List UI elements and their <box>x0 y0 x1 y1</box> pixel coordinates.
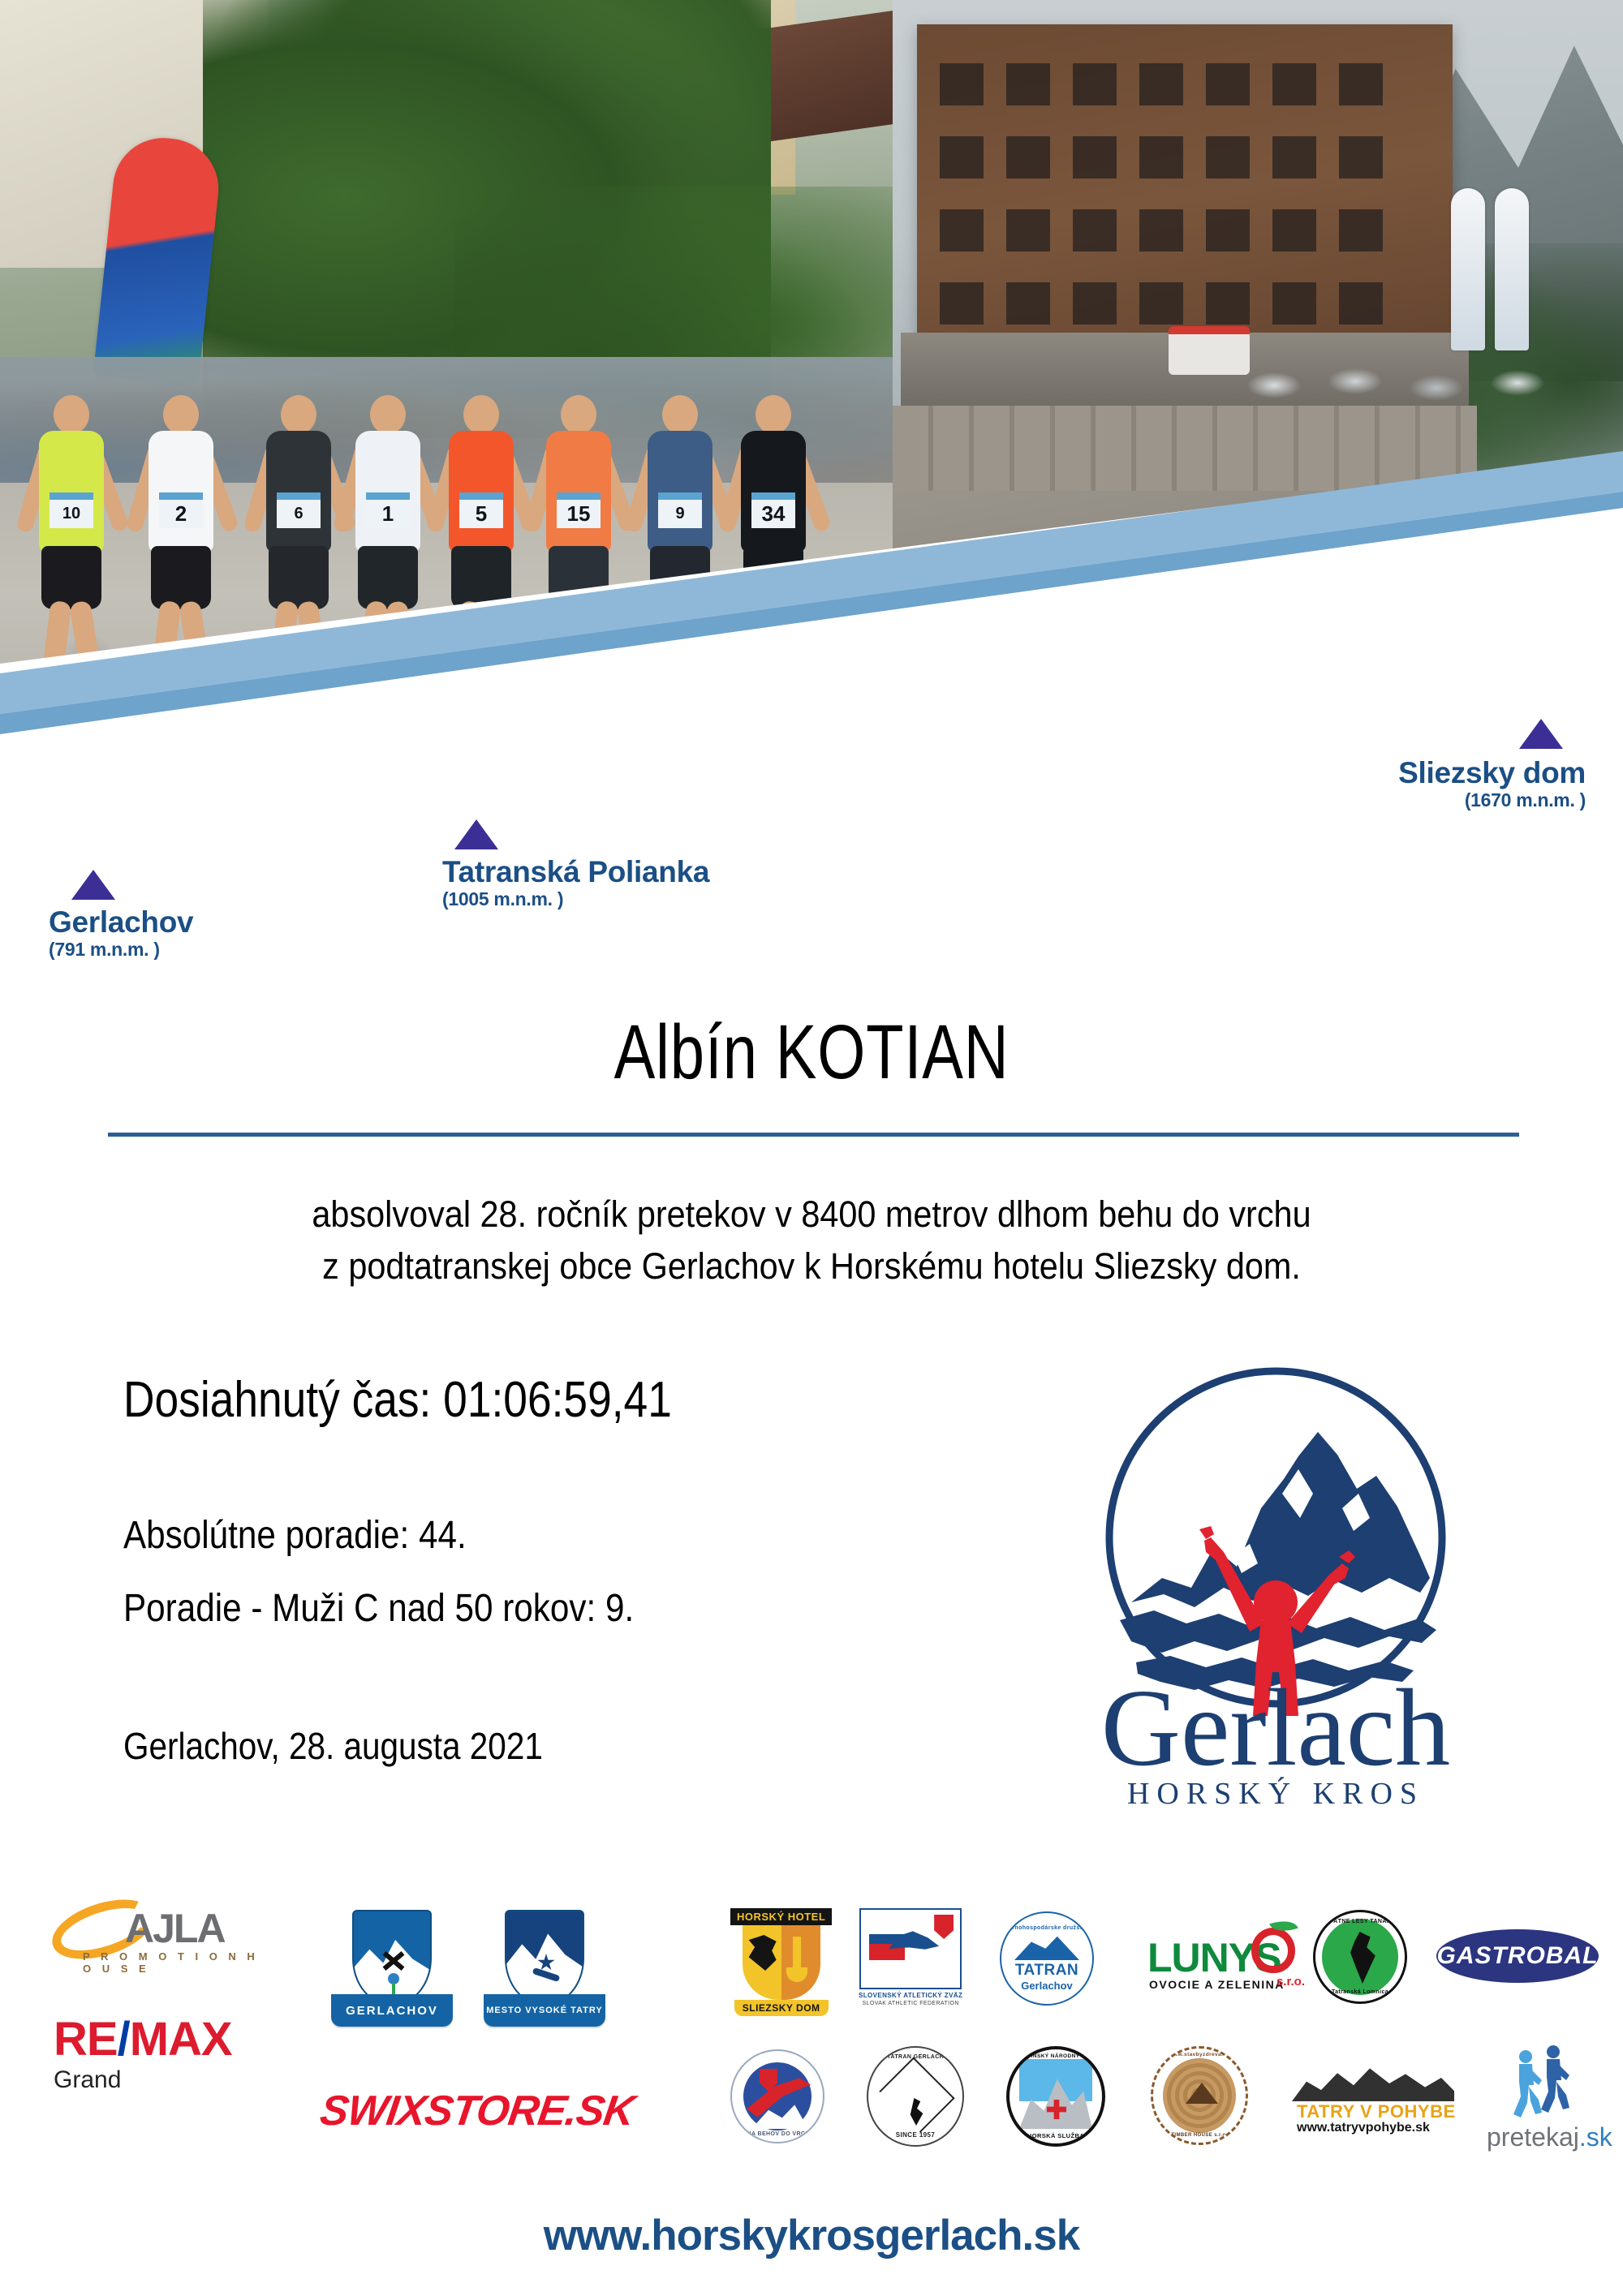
remax-max: MAX <box>130 2013 232 2066</box>
place-and-date: Gerlachov, 28. augusta 2021 <box>123 1724 543 1768</box>
sponsor-gastrobal: GASTROBAL <box>1436 1929 1599 1983</box>
photo-banner: 10 2 6 <box>0 0 1623 759</box>
remax-office: Grand <box>54 2066 121 2094</box>
lunys-tagline: OVOCIE A ZELENINA <box>1149 1978 1285 1991</box>
body-line-1: absolvoval 28. ročník pretekov v 8400 me… <box>65 1189 1558 1240</box>
timber-house-url: www.stavbyzdreva.sk <box>1153 2052 1246 2057</box>
peak-label-gerlachov: Gerlachov (791 m.n.m. ) <box>49 907 193 959</box>
sponsor-mesto-vysoke-tatry: MESTO VYSOKÉ TATRY <box>484 1910 605 2027</box>
pd-tatran-top: Poľnohospodárske družstvo <box>1005 1925 1090 1931</box>
horska-sluzba-sub: HORSKÁ SLUŽBA <box>1010 2132 1102 2139</box>
pd-tatran-name: TATRAN <box>1015 1962 1078 1980</box>
sliezsky-dom-ribbon: SLIEZSKY DOM <box>734 2000 829 2016</box>
lunys-suffix: s.r.o. <box>1276 1975 1305 1989</box>
peak-altitude: (1670 m.n.m. ) <box>1350 791 1586 810</box>
sliezsky-dom-crest-icon <box>743 1925 820 2000</box>
sponsor-tatry-v-pohybe: TATRY V POHYBE www.tatryvpohybe.sk <box>1292 2049 1462 2139</box>
tj-tatran-top: TJ TATRAN GERLACHOV <box>868 2054 962 2060</box>
sponsor-strip: AJLA P R O M O T I O N H O U S E RE/MAX … <box>0 1890 1623 2199</box>
vysoke-tatry-shield-icon <box>505 1910 584 2006</box>
mountain-ridge-icon <box>1292 2054 1454 2101</box>
sponsor-stavby-z-dreva: www.stavbyzdreva.sk TIMBER HOUSE s.r.o. <box>1151 2046 1248 2145</box>
sponsor-sliezsky-dom: HORSKÝ HOTEL SLIEZSKY DOM <box>730 1908 832 2016</box>
horska-sluzba-top: TATRANSKÝ NÁRODNÝ PARK <box>1010 2053 1102 2059</box>
peak-label-tatranska-polianka: Tatranská Polianka (1005 m.n.m. ) <box>442 857 709 909</box>
gerlachov-ribbon: GERLACHOV <box>331 1994 453 2027</box>
remax-re: RE <box>54 2013 118 2066</box>
swixstore-wordmark: SWIXSTORE.SK <box>317 2087 637 2135</box>
sponsor-swixstore: SWIXSTORE.SK <box>321 2087 634 2135</box>
sponsor-pd-tatran-gerlachov: Poľnohospodárske družstvo TATRAN Gerlach… <box>1000 1911 1094 2006</box>
remax-slash: / <box>118 2013 130 2066</box>
certificate-page: 10 2 6 <box>0 0 1623 2296</box>
result-time: Dosiahnutý čas: 01:06:59,41 <box>123 1371 672 1429</box>
sponsor-statne-lesy-tanapu: ŠTÁTNE LESY TANAPu Tatranská Lomnica <box>1313 1910 1407 2004</box>
photo-bottom-sweep <box>0 0 1623 759</box>
timber-house-sub: TIMBER HOUSE s.r.o. <box>1153 2133 1246 2138</box>
logo-tagline: HORSKÝ KROS <box>1127 1777 1424 1811</box>
sponsor-tj-tatran-gerlachov: TJ TATRAN GERLACHOV SINCE 1957 <box>867 2046 964 2147</box>
sponsor-tanap-horska-sluzba: TATRANSKÝ NÁRODNÝ PARK HORSKÁ SLUŽBA <box>1006 2046 1105 2147</box>
saz-name: SLOVENSKÝ ATLETICKÝ ZVÄZ <box>859 1992 962 1999</box>
timber-house-badge-icon: www.stavbyzdreva.sk TIMBER HOUSE s.r.o. <box>1151 2046 1248 2145</box>
unia-behov-name: ÚNIA BEHOV DO VRCHU <box>732 2131 823 2137</box>
rank-absolute: Absolútne poradie: 44. <box>123 1513 467 1558</box>
apple-icon <box>1251 1928 1295 1973</box>
sponsor-remax: RE/MAX Grand <box>54 2012 232 2094</box>
peak-altitude: (791 m.n.m. ) <box>49 940 193 959</box>
sponsor-ajla: AJLA P R O M O T I O N H O U S E <box>50 1898 261 1973</box>
peak-name: Gerlachov <box>49 907 193 938</box>
ajla-wordmark: AJLA <box>125 1905 225 1952</box>
peak-altitude: (1005 m.n.m. ) <box>442 890 709 909</box>
pd-tatran-sub: Gerlachov <box>1021 1980 1073 1992</box>
gastrobal-wordmark: GASTROBAL <box>1436 1929 1599 1983</box>
rank-category: Poradie - Muži C nad 50 rokov: 9. <box>123 1586 634 1631</box>
vysoke-tatry-ribbon: MESTO VYSOKÉ TATRY <box>484 1994 605 2027</box>
pretekaj-name: pretekaj <box>1487 2122 1579 2152</box>
gerlach-horsky-kros-logo: Gerlach HORSKÝ KROS <box>1040 1335 1511 1813</box>
peak-name: Tatranská Polianka <box>442 857 709 888</box>
sponsor-slovensky-atleticky-zvaz: SLOVENSKÝ ATLETICKÝ ZVÄZ SLOVAK ATHLETIC… <box>859 1908 962 2006</box>
pretekaj-tld: .sk <box>1579 2122 1612 2152</box>
tj-tatran-sub: SINCE 1957 <box>868 2131 962 2139</box>
gerlachov-shield-icon <box>352 1910 432 2006</box>
body-line-2: z podtatranskej obce Gerlachov k Horském… <box>65 1240 1558 1292</box>
lesy-tanap-sub: Tatranská Lomnica <box>1315 1989 1405 1995</box>
event-website[interactable]: www.horskykrosgerlach.sk <box>0 2211 1623 2260</box>
peak-marker-gerlachov <box>71 870 115 900</box>
saz-subtitle: SLOVAK ATHLETIC FEDERATION <box>862 2001 958 2006</box>
athlete-name: Albín KOTIAN <box>162 1008 1461 1097</box>
pd-tatran-badge-icon: Poľnohospodárske družstvo TATRAN Gerlach… <box>1000 1911 1094 2006</box>
sliezsky-dom-top-label: HORSKÝ HOTEL <box>730 1908 832 1925</box>
unia-behov-badge-icon: ÚNIA BEHOV DO VRCHU <box>730 2049 824 2143</box>
peak-label-sliezsky-dom: Sliezsky dom (1670 m.n.m. ) <box>1350 758 1586 810</box>
title-divider <box>108 1133 1519 1137</box>
tatry-v-pohybe-url: www.tatryvpohybe.sk <box>1297 2121 1430 2135</box>
logo-wordmark: Gerlach <box>1101 1667 1450 1789</box>
tj-tatran-badge-icon: TJ TATRAN GERLACHOV SINCE 1957 <box>867 2046 964 2147</box>
sponsor-unia-behov-do-vrchu: ÚNIA BEHOV DO VRCHU <box>730 2049 824 2143</box>
runner-silhouette-dark-icon <box>1534 2044 1571 2113</box>
tatry-v-pohybe-wordmark: TATRY V POHYBE <box>1297 2101 1456 2122</box>
ajla-tagline: P R O M O T I O N H O U S E <box>83 1950 261 1975</box>
lesy-tanap-top: ŠTÁTNE LESY TANAPu <box>1315 1919 1405 1924</box>
sponsor-obec-gerlachov: GERLACHOV <box>331 1910 453 2027</box>
lesy-tanap-badge-icon: ŠTÁTNE LESY TANAPu Tatranská Lomnica <box>1313 1910 1407 2004</box>
peak-name: Sliezsky dom <box>1350 758 1586 789</box>
peak-marker-tatranska-polianka <box>454 819 498 849</box>
horska-sluzba-badge-icon: TATRANSKÝ NÁRODNÝ PARK HORSKÁ SLUŽBA <box>1006 2046 1105 2147</box>
sponsor-pretekaj-sk: pretekaj.sk <box>1492 2038 1623 2160</box>
sponsor-lunys: LUNYS OVOCIE A ZELENINA s.r.o. <box>1147 1916 1310 1994</box>
saz-emblem-icon <box>859 1908 962 1989</box>
certificate-body: absolvoval 28. ročník pretekov v 8400 me… <box>65 1189 1558 1292</box>
